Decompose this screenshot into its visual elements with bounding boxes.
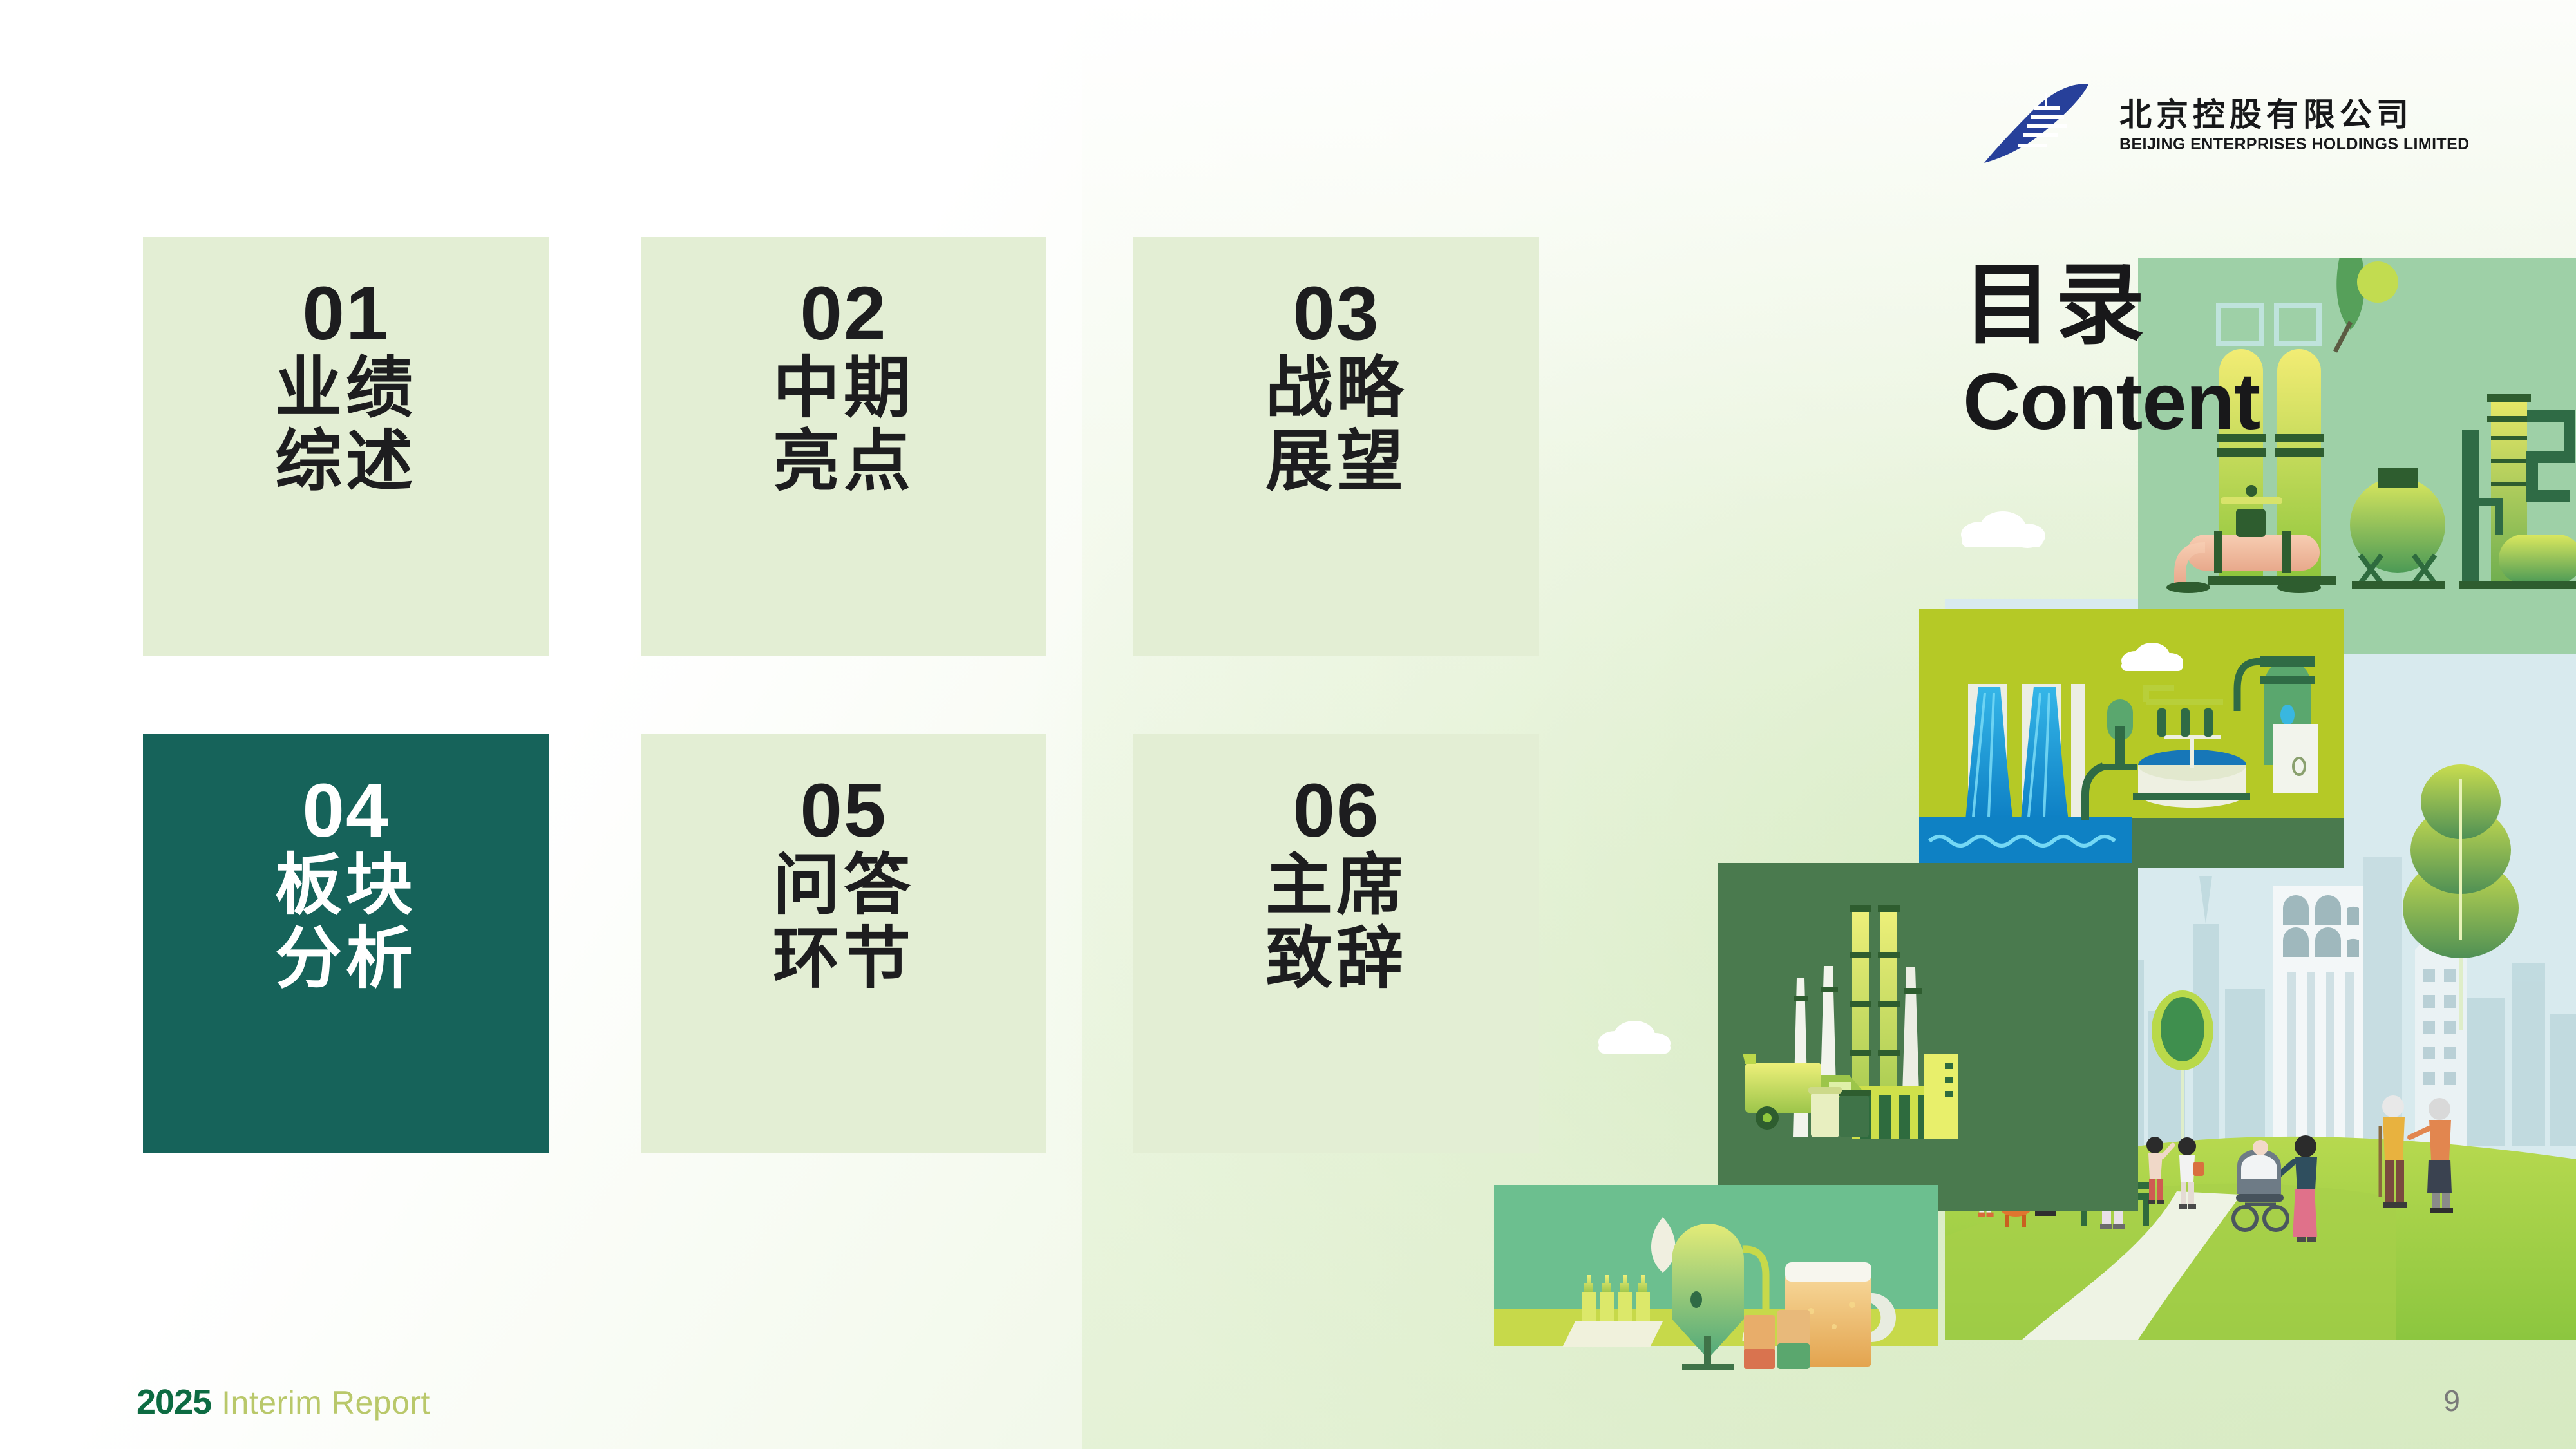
slide-canvas: 北京控股有限公司 BEIJING ENTERPRISES HOLDINGS LI… (0, 0, 2576, 1449)
company-logo: 北京控股有限公司 BEIJING ENTERPRISES HOLDINGS LI… (1980, 77, 2470, 174)
toc-item-03[interactable]: 03 战略 展望 (1133, 237, 1539, 656)
toc-number: 02 (800, 276, 887, 352)
beijing-enterprises-mark (1980, 80, 2103, 171)
footer-brand: 2025 Interim Report (137, 1382, 430, 1422)
footer-label: Interim Report (222, 1384, 430, 1421)
toc-label-top: 战略 (1265, 352, 1407, 425)
toc-label-top: 主席 (1265, 849, 1407, 922)
toc-item-06[interactable]: 06 主席 致辞 (1133, 734, 1539, 1153)
toc-label-bottom: 致辞 (1265, 922, 1407, 996)
toc-number: 05 (800, 773, 887, 849)
toc-label-top: 问答 (773, 849, 914, 922)
toc-number: 01 (302, 276, 389, 352)
toc-item-01[interactable]: 01 业绩 综述 (143, 237, 549, 656)
logo-chinese-name: 北京控股有限公司 (2119, 97, 2470, 131)
page-title: 目录 Content (1963, 258, 2260, 447)
toc-label-bottom: 综述 (275, 425, 417, 498)
toc-number: 03 (1293, 276, 1379, 352)
toc-item-04-active[interactable]: 04 板块 分析 (143, 734, 549, 1153)
toc-label-bottom: 环节 (773, 922, 914, 996)
page-number: 9 (2443, 1383, 2460, 1418)
water-treatment-panel (1919, 609, 2344, 868)
toc-label-bottom: 分析 (275, 922, 417, 996)
environment-energy-panel (1598, 863, 2138, 1211)
toc-item-05[interactable]: 05 问答 环节 (641, 734, 1046, 1153)
cloud-icon (1961, 511, 2045, 548)
logo-english-name: BEIJING ENTERPRISES HOLDINGS LIMITED (2119, 136, 2470, 154)
toc-label-bottom: 展望 (1265, 425, 1407, 498)
toc-number: 06 (1293, 773, 1379, 849)
toc-label-top: 板块 (275, 849, 417, 922)
brewery-panel (1494, 1185, 1938, 1370)
toc-label-top: 中期 (773, 352, 914, 425)
toc-number: 04 (302, 773, 389, 849)
page-title-chinese: 目录 (1963, 258, 2260, 354)
toc-label-top: 业绩 (275, 352, 417, 425)
toc-item-02[interactable]: 02 中期 亮点 (641, 237, 1046, 656)
footer-year: 2025 (137, 1382, 211, 1422)
toc-label-bottom: 亮点 (773, 425, 914, 498)
page-title-english: Content (1963, 357, 2260, 447)
